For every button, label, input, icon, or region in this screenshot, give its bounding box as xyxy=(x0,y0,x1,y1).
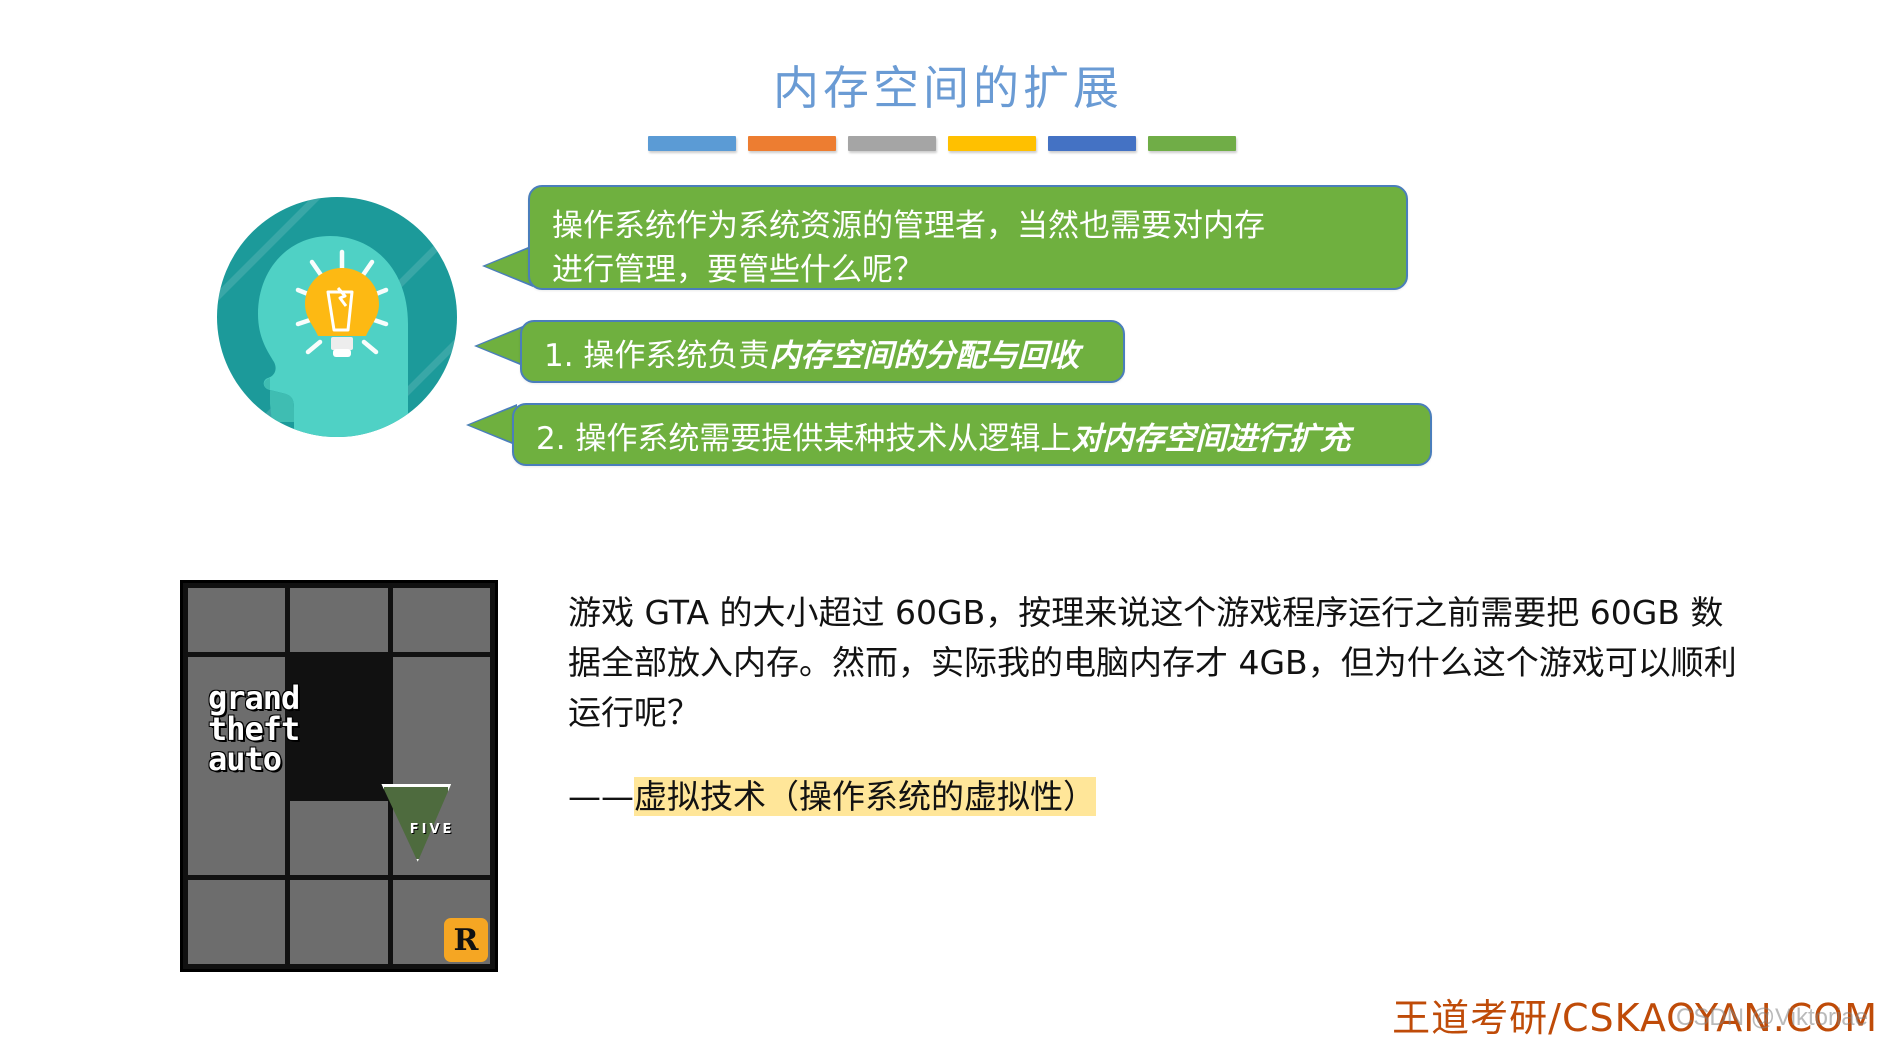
conclusion-line: ——虚拟技术（操作系统的虚拟性） xyxy=(568,770,1096,818)
rule-segment-orange xyxy=(748,136,836,151)
callout-point-1-emphasis: 内存空间的分配与回收 xyxy=(769,338,1079,374)
callout-question: 操作系统作为系统资源的管理者，当然也需要对内存 进行管理，要管些什么呢？ xyxy=(528,185,1408,290)
callout-point-2-text: 2. 操作系统需要提供某种技术从逻辑上对内存空间进行扩充 xyxy=(536,417,1430,461)
footer-brand: 王道考研/CSKAOYAN.COM xyxy=(1392,987,1878,1042)
gta-logo: grand theft auto xyxy=(208,683,401,774)
rule-segment-dark-blue xyxy=(1048,136,1136,151)
body-paragraph: 游戏 GTA 的大小超过 60GB，按理来说这个游戏程序运行之前需要把 60GB… xyxy=(568,588,1748,738)
gta-panel-gasmask xyxy=(290,588,387,652)
gta-panel-jetski xyxy=(290,801,387,875)
conclusion-highlight: 虚拟技术（操作系统的虚拟性） xyxy=(634,777,1096,816)
gta-panel-trevor xyxy=(393,657,490,875)
gta-panel-helicopter xyxy=(188,588,285,652)
callout-point-1: 1. 操作系统负责内存空间的分配与回收 xyxy=(520,320,1125,383)
page-title: 内存空间的扩展 xyxy=(0,52,1896,118)
conclusion-dash: —— xyxy=(568,777,634,816)
rule-segment-green xyxy=(1148,136,1236,151)
callout-point-2-tail xyxy=(469,406,517,444)
gta-five-label: FIVE xyxy=(410,822,455,837)
slide-canvas: 内存空间的扩展 xyxy=(0,0,1896,1060)
callout-point-2: 2. 操作系统需要提供某种技术从逻辑上对内存空间进行扩充 xyxy=(512,403,1432,466)
gta-panel-dog xyxy=(188,880,285,964)
gta-panel-motorcycle xyxy=(393,588,490,652)
rule-segment-blue xyxy=(648,136,736,151)
callout-point-1-tail xyxy=(477,327,525,365)
gta-logo-line-3: auto xyxy=(208,744,401,774)
callout-point-1-text: 1. 操作系统负责内存空间的分配与回收 xyxy=(544,334,1123,378)
brain-lightbulb-icon xyxy=(212,192,462,442)
gta-panel-franklin xyxy=(290,880,387,964)
callout-point-2-emphasis: 对内存空间进行扩充 xyxy=(1071,421,1350,457)
callout-question-tail xyxy=(485,247,533,285)
callout-point-1-plain: 1. 操作系统负责 xyxy=(544,338,769,374)
rule-segment-yellow xyxy=(948,136,1036,151)
callout-question-line2: 进行管理，要管些什么呢？ xyxy=(552,248,1406,292)
callout-point-2-plain: 2. 操作系统需要提供某种技术从逻辑上 xyxy=(536,421,1071,457)
title-rule-bar xyxy=(648,136,1236,151)
rule-segment-gray xyxy=(848,136,936,151)
gta-v-box-art: grand theft auto FIVE R xyxy=(180,580,498,972)
rockstar-logo: R xyxy=(444,918,488,962)
callout-question-line1: 操作系统作为系统资源的管理者，当然也需要对内存 xyxy=(552,204,1406,248)
